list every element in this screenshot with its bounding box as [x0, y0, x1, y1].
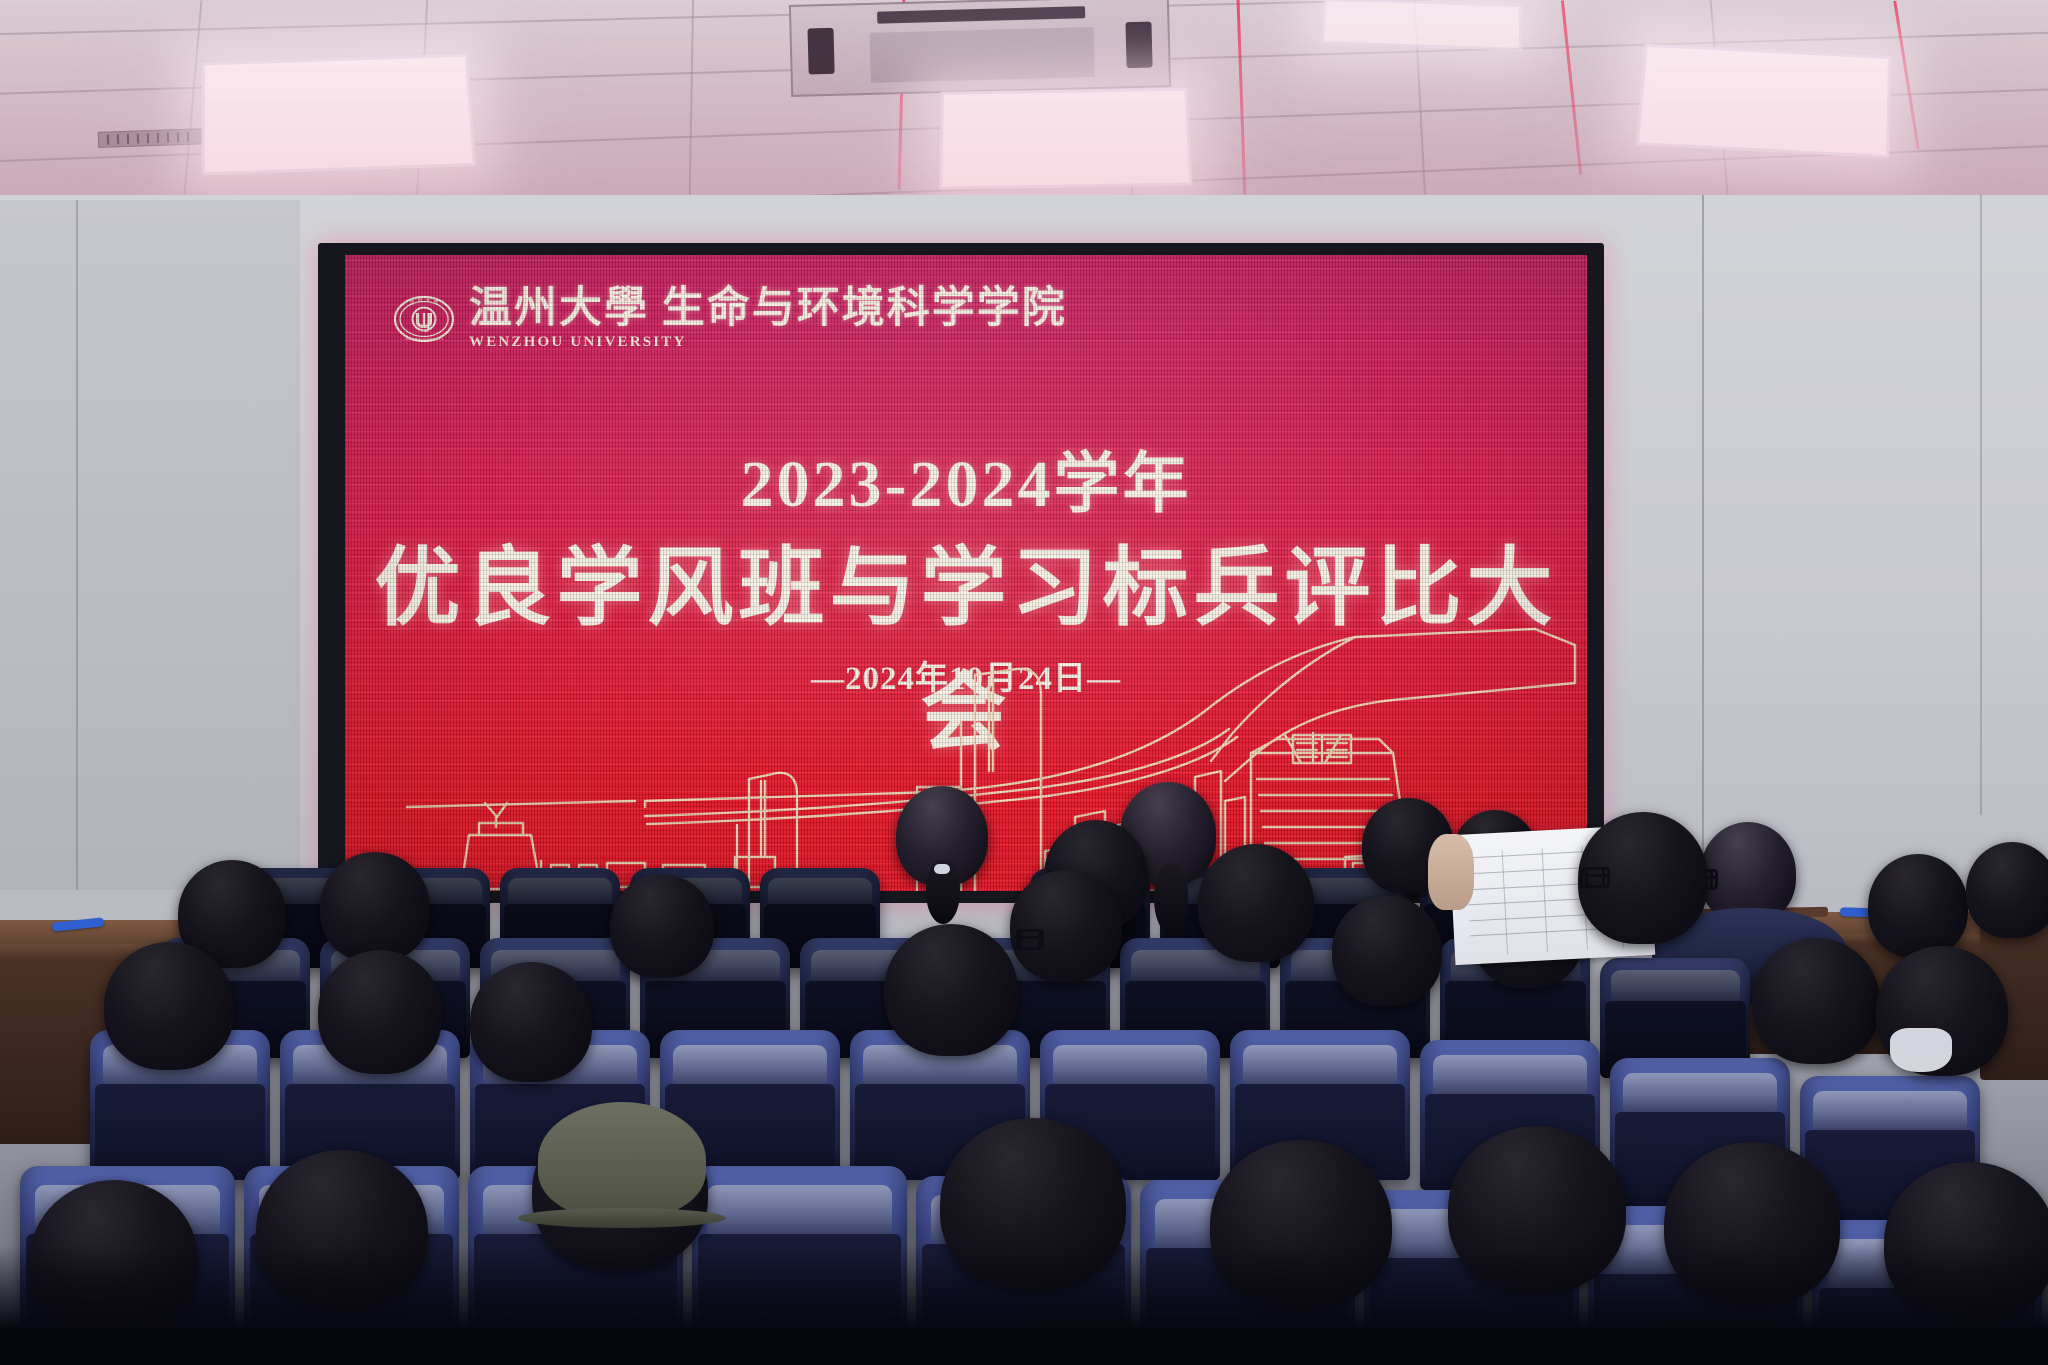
- slide-institution-english: WENZHOU UNIVERSITY: [469, 335, 1067, 350]
- face-mask: [1890, 1028, 1952, 1072]
- audience-seating: [0, 880, 2048, 1365]
- attendee-head: [1752, 938, 1880, 1064]
- attendee-head: [1210, 1140, 1392, 1308]
- slide-header: 温州 大學 WENZHOU UNIVERSITY 温州大學 生命与环境科学学院 …: [393, 287, 1067, 350]
- attendee-head: [256, 1150, 428, 1310]
- wenzhou-university-emblem-icon: 温州 大學 WENZHOU UNIVERSITY: [393, 288, 455, 350]
- ceiling-panel-light: [1321, 0, 1523, 51]
- attendee-head: [30, 1180, 198, 1338]
- slide-title-year: 2023-2024学年: [345, 430, 1587, 526]
- eyeglasses-icon: [1582, 874, 1608, 877]
- wall-panel-left: [0, 200, 300, 890]
- svg-text:州: 州: [418, 297, 422, 302]
- attendee-head: [1884, 1162, 2048, 1322]
- baseball-cap: [538, 1102, 706, 1218]
- attendee-head: [1198, 844, 1314, 962]
- attendee-head: [320, 852, 430, 962]
- ceiling-panel-light: [202, 54, 477, 176]
- ceiling-panel-light: [1636, 44, 1891, 158]
- attendee-head: [1664, 1142, 1840, 1306]
- ceiling-panel-light: [939, 88, 1193, 190]
- attendee-head: [1868, 854, 1968, 958]
- lecture-hall-scene: 温州 大學 WENZHOU UNIVERSITY 温州大學 生命与环境科学学院 …: [0, 0, 2048, 1365]
- wall-seam: [1980, 195, 1982, 815]
- hair-scrunchie: [934, 864, 950, 874]
- wall-seam: [76, 200, 78, 890]
- svg-text:温: 温: [410, 299, 415, 306]
- attendee-head: [610, 874, 714, 978]
- attendee-head: [1448, 1126, 1626, 1292]
- svg-text:大: 大: [426, 296, 431, 303]
- ceiling-air-vent: [98, 128, 208, 148]
- attendee-head: [104, 942, 234, 1070]
- attendee-head: [318, 950, 442, 1074]
- attendee-with-glasses: [1010, 870, 1122, 982]
- eyeglasses-icon: [1018, 936, 1042, 939]
- ponytail: [1154, 864, 1188, 934]
- attendee-hand: [1428, 834, 1474, 910]
- wall-seam: [1702, 195, 1704, 895]
- attendee-head: [1332, 896, 1442, 1006]
- svg-text:學: 學: [434, 299, 439, 306]
- svg-text:WENZHOU UNIVERSITY: WENZHOU UNIVERSITY: [405, 337, 444, 341]
- attendee-head: [1966, 842, 2048, 938]
- auditorium-seat[interactable]: [692, 1166, 907, 1356]
- attendee-head: [940, 1118, 1126, 1290]
- attendee-head: [470, 962, 592, 1082]
- attendee-head: [884, 924, 1018, 1056]
- ceiling-cassette-ac-unit: [789, 0, 1171, 97]
- slide-institution-chinese: 温州大學 生命与环境科学学院: [469, 287, 1067, 330]
